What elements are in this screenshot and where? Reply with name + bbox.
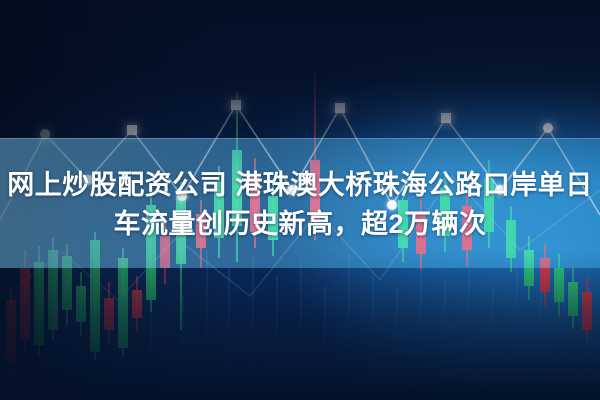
band-top-edge (0, 138, 600, 139)
banner-image: 网上炒股配资公司 港珠澳大桥珠海公路口岸单日 车流量创历史新高，超2万辆次 (0, 0, 600, 400)
headline-line-1: 网上炒股配资公司 港珠澳大桥珠海公路口岸单日 (0, 166, 600, 205)
headline-line-2: 车流量创历史新高，超2万辆次 (0, 205, 600, 244)
headline: 网上炒股配资公司 港珠澳大桥珠海公路口岸单日 车流量创历史新高，超2万辆次 (0, 166, 600, 244)
bottom-vignette (0, 250, 600, 400)
